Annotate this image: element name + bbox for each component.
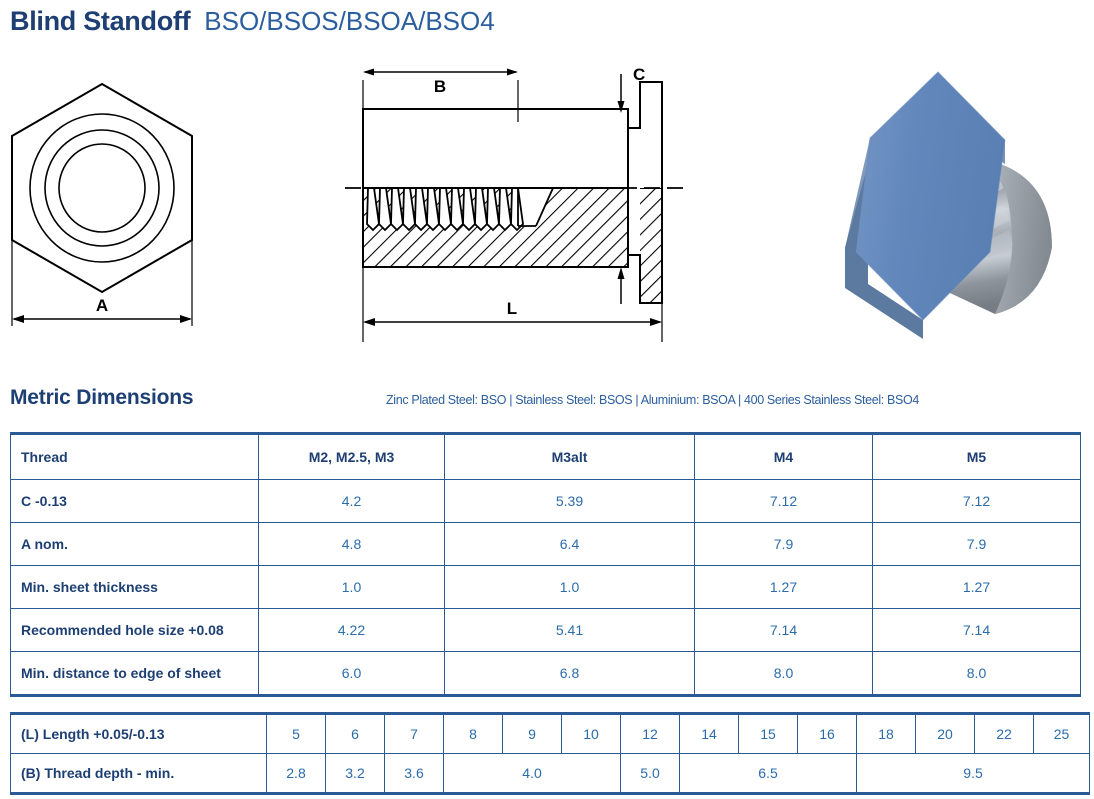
length-row-label: (L) Length +0.05/-0.13	[11, 714, 267, 754]
cell-value: 6.8	[445, 652, 695, 696]
row-label: Min. distance to edge of sheet	[11, 652, 259, 696]
cell-value: 7.12	[873, 480, 1081, 523]
cell-value: 1.0	[445, 566, 695, 609]
cell-value: 4.8	[259, 523, 445, 566]
length-cell: 6	[326, 714, 385, 754]
arrowhead-right-l	[650, 318, 662, 326]
cell-value: 8.0	[695, 652, 873, 696]
product-name: Blind Standoff	[10, 6, 190, 37]
thread-depth-cell: 4.0	[444, 754, 621, 794]
product-codes: BSO/BSOS/BSOA/BSO4	[204, 6, 494, 37]
material-code-legend: Zinc Plated Steel: BSO | Stainless Steel…	[386, 393, 919, 407]
hexagon-front-view-drawing: A	[0, 52, 220, 352]
metric-dimensions-table: Thread M2, M2.5, M3 M3alt M4 M5 C -0.13 …	[10, 432, 1081, 697]
thread-depth-cell: 3.6	[385, 754, 444, 794]
flange-hatch-fill	[640, 188, 662, 303]
cell-value: 1.27	[695, 566, 873, 609]
page-title: Blind Standoff BSO/BSOS/BSOA/BSO4	[10, 6, 495, 37]
cell-value: 4.2	[259, 480, 445, 523]
thread-depth-cell: 9.5	[857, 754, 1090, 794]
table-row: Recommended hole size +0.08 4.22 5.41 7.…	[11, 609, 1081, 652]
length-cell: 9	[503, 714, 562, 754]
table-row: C -0.13 4.2 5.39 7.12 7.12	[11, 480, 1081, 523]
table-header-row: Thread M2, M2.5, M3 M3alt M4 M5	[11, 434, 1081, 480]
row-label: A nom.	[11, 523, 259, 566]
arrowhead-c-top	[618, 101, 625, 113]
flange-hatch-group	[628, 188, 662, 303]
cell-value: 6.0	[259, 652, 445, 696]
body-upper-outline	[363, 109, 628, 188]
length-cell: 12	[621, 714, 680, 754]
length-cell: 20	[916, 714, 975, 754]
arrowhead-right-b	[507, 69, 518, 76]
length-cell: 16	[798, 714, 857, 754]
depth-row-label: (B) Thread depth - min.	[11, 754, 267, 794]
header-cell-m2: M2, M2.5, M3	[259, 434, 445, 480]
cell-value: 5.39	[445, 480, 695, 523]
length-cell: 5	[267, 714, 326, 754]
product-3d-render	[790, 52, 1090, 352]
outer-circle	[30, 114, 174, 262]
length-cell: 25	[1034, 714, 1090, 754]
arrowhead-c-bottom	[618, 267, 625, 279]
row-label: Recommended hole size +0.08	[11, 609, 259, 652]
table-row: Min. sheet thickness 1.0 1.0 1.27 1.27	[11, 566, 1081, 609]
arrowhead-left-l	[363, 318, 375, 326]
header-cell-thread: Thread	[11, 434, 259, 480]
cell-value: 5.41	[445, 609, 695, 652]
row-label: Min. sheet thickness	[11, 566, 259, 609]
cell-value: 6.4	[445, 523, 695, 566]
table-row: Min. distance to edge of sheet 6.0 6.8 8…	[11, 652, 1081, 696]
length-cell: 15	[739, 714, 798, 754]
technical-drawings: A B C	[0, 52, 1094, 372]
thread-depth-cell: 6.5	[680, 754, 857, 794]
length-cell: 10	[562, 714, 621, 754]
cell-value: 4.22	[259, 609, 445, 652]
inner-circle	[59, 144, 145, 232]
row-label: C -0.13	[11, 480, 259, 523]
cell-value: 8.0	[873, 652, 1081, 696]
table-row: A nom. 4.8 6.4 7.9 7.9	[11, 523, 1081, 566]
metric-dimensions-heading: Metric Dimensions Zinc Plated Steel: BSO…	[10, 386, 1084, 420]
cell-value: 7.14	[873, 609, 1081, 652]
thread-depth-cell: 2.8	[267, 754, 326, 794]
dimension-label-b: B	[434, 77, 446, 96]
header-cell-m4: M4	[695, 434, 873, 480]
arrowhead-left-a	[12, 315, 24, 323]
header-cell-m5: M5	[873, 434, 1081, 480]
cross-section-drawing: B C	[340, 52, 690, 352]
body-hatch-group	[363, 188, 628, 267]
length-row: (L) Length +0.05/-0.13 56789101214151618…	[11, 714, 1090, 754]
length-cell: 14	[680, 714, 739, 754]
dimension-label-l: L	[507, 299, 517, 318]
length-cell: 7	[385, 714, 444, 754]
length-thread-depth-table: (L) Length +0.05/-0.13 56789101214151618…	[10, 712, 1090, 795]
section-title: Metric Dimensions	[10, 386, 193, 410]
middle-circle	[45, 130, 159, 246]
length-cell: 22	[975, 714, 1034, 754]
thread-depth-row: (B) Thread depth - min. 2.83.23.64.05.06…	[11, 754, 1090, 794]
cell-value: 7.9	[695, 523, 873, 566]
length-cell: 18	[857, 714, 916, 754]
cell-value: 1.27	[873, 566, 1081, 609]
hexagon-outline	[12, 84, 192, 292]
arrowhead-left-b	[363, 69, 374, 76]
thread-depth-cell: 5.0	[621, 754, 680, 794]
header-cell-m3alt: M3alt	[445, 434, 695, 480]
dimension-label-a: A	[96, 296, 108, 315]
thread-depth-cell: 3.2	[326, 754, 385, 794]
cell-value: 7.9	[873, 523, 1081, 566]
arrowhead-right-a	[180, 315, 192, 323]
length-cell: 8	[444, 714, 503, 754]
cell-value: 7.14	[695, 609, 873, 652]
cell-value: 1.0	[259, 566, 445, 609]
cell-value: 7.12	[695, 480, 873, 523]
